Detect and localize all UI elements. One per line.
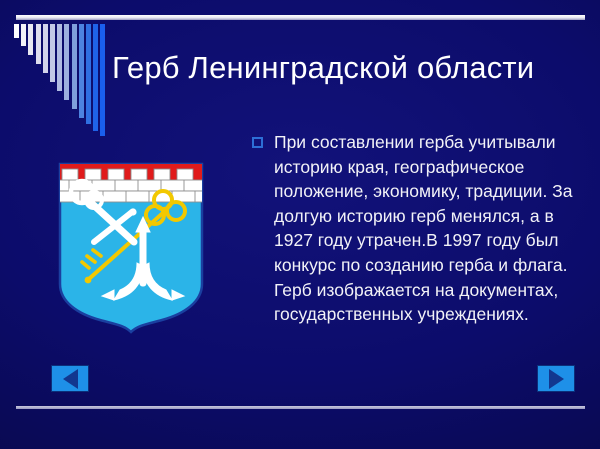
decorative-bar bbox=[79, 24, 84, 118]
decorative-bars bbox=[14, 24, 114, 134]
hollow-square-bullet-icon bbox=[252, 137, 263, 148]
decorative-bar bbox=[100, 24, 105, 136]
body-text-block: При составлении герба учитывали историю … bbox=[252, 130, 588, 327]
next-slide-button[interactable] bbox=[537, 365, 575, 392]
decorative-bar bbox=[28, 24, 33, 55]
body-paragraph: При составлении герба учитывали историю … bbox=[274, 130, 588, 327]
triangle-right-icon bbox=[549, 369, 564, 389]
decorative-bar bbox=[93, 24, 98, 131]
coat-of-arms-svg bbox=[56, 162, 206, 334]
page-title: Герб Ленинградской области bbox=[112, 50, 582, 86]
decorative-bar bbox=[86, 24, 91, 124]
decorative-bar bbox=[64, 24, 69, 100]
decorative-bar bbox=[43, 24, 48, 73]
decorative-bar bbox=[72, 24, 77, 109]
top-divider-rule bbox=[16, 15, 585, 20]
decorative-bar bbox=[36, 24, 41, 64]
presentation-slide: Герб Ленинградской области bbox=[0, 0, 600, 449]
bottom-divider-rule bbox=[16, 406, 585, 409]
decorative-bar bbox=[57, 24, 62, 91]
decorative-bar bbox=[14, 24, 19, 38]
triangle-left-icon bbox=[63, 369, 78, 389]
decorative-bar bbox=[50, 24, 55, 82]
prev-slide-button[interactable] bbox=[51, 365, 89, 392]
coat-of-arms-image bbox=[56, 162, 206, 334]
decorative-bar bbox=[21, 24, 26, 46]
